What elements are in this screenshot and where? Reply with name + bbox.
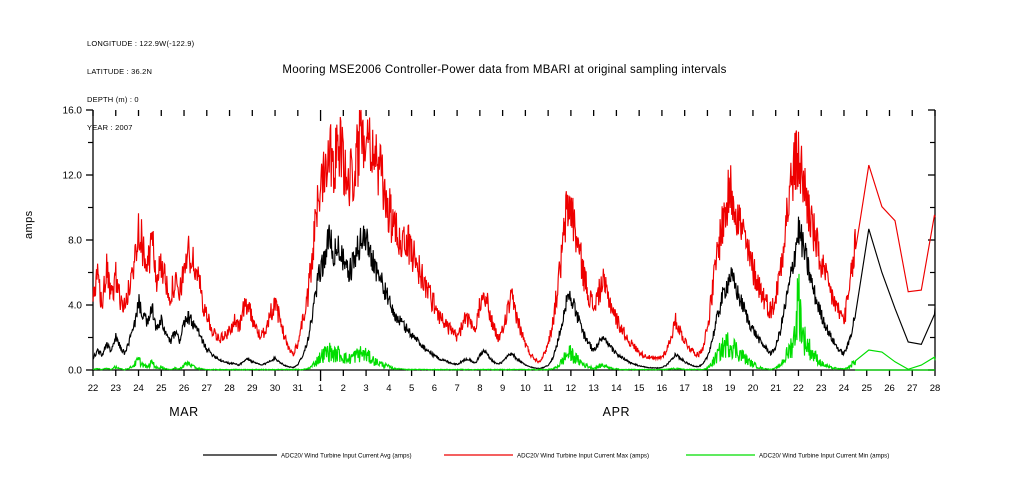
x-tick-label: 22 [88, 383, 99, 394]
y-tick-label: 16.0 [63, 106, 83, 117]
x-tick-label: 6 [432, 383, 437, 394]
x-tick-label: 23 [110, 383, 121, 394]
x-tick-label: 20 [748, 383, 759, 394]
x-axis-tick-labels: 2223242526272829303112345678910111213141… [88, 383, 941, 394]
x-tick-label: 26 [179, 383, 190, 394]
y-tick-label: 4.0 [68, 301, 82, 312]
x-tick-label: 24 [839, 383, 850, 394]
x-tick-label: 18 [702, 383, 713, 394]
axis-frame [93, 110, 935, 370]
x-tick-label: 25 [156, 383, 167, 394]
x-tick-label: 7 [454, 383, 459, 394]
x-tick-label: 2 [341, 383, 346, 394]
x-tick-label: 21 [770, 383, 781, 394]
legend-label-avg: ADC20/ Wind Turbine Input Current Avg (a… [281, 453, 412, 460]
x-tick-label: 8 [477, 383, 482, 394]
x-tick-label: 3 [363, 383, 368, 394]
x-tick-label: 28 [224, 383, 235, 394]
x-tick-label: 5 [409, 383, 414, 394]
x-tick-label: 10 [520, 383, 531, 394]
x-tick-label: 19 [725, 383, 736, 394]
legend: ADC20/ Wind Turbine Input Current Avg (a… [203, 453, 889, 460]
x-tick-label: 22 [793, 383, 804, 394]
chart-svg: 0.04.08.012.016.0 2223242526272829303112… [0, 0, 1009, 504]
y-tick-label: 8.0 [68, 236, 82, 247]
x-tick-label: 9 [500, 383, 505, 394]
chart-plot-area: 0.04.08.012.016.0 2223242526272829303112… [0, 0, 1009, 504]
x-tick-label: 16 [657, 383, 668, 394]
x-tick-label: 17 [679, 383, 690, 394]
x-tick-label: 28 [930, 383, 941, 394]
x-tick-label: 23 [816, 383, 827, 394]
month-labels: MARAPR [169, 405, 630, 419]
series-line-max [93, 110, 935, 363]
x-tick-label: 31 [293, 383, 304, 394]
data-series-group [93, 110, 935, 370]
x-tick-label: 13 [588, 383, 599, 394]
month-label: MAR [169, 405, 199, 419]
y-tick-label: 12.0 [63, 171, 83, 182]
y-tick-label: 0.0 [68, 366, 82, 377]
x-tick-label: 15 [634, 383, 645, 394]
x-tick-label: 1 [318, 383, 323, 394]
x-tick-label: 27 [907, 383, 918, 394]
x-tick-label: 12 [566, 383, 577, 394]
x-tick-label: 29 [247, 383, 258, 394]
x-tick-label: 30 [270, 383, 281, 394]
x-tick-label: 26 [884, 383, 895, 394]
month-label: APR [603, 405, 631, 419]
x-tick-label: 4 [386, 383, 391, 394]
legend-label-min: ADC20/ Wind Turbine Input Current Min (a… [759, 453, 889, 460]
x-tick-label: 27 [201, 383, 212, 394]
x-tick-label: 11 [543, 383, 553, 394]
x-tick-label: 24 [133, 383, 144, 394]
legend-label-max: ADC20/ Wind Turbine Input Current Max (a… [517, 453, 649, 460]
x-tick-label: 25 [861, 383, 872, 394]
x-tick-label: 14 [611, 383, 622, 394]
